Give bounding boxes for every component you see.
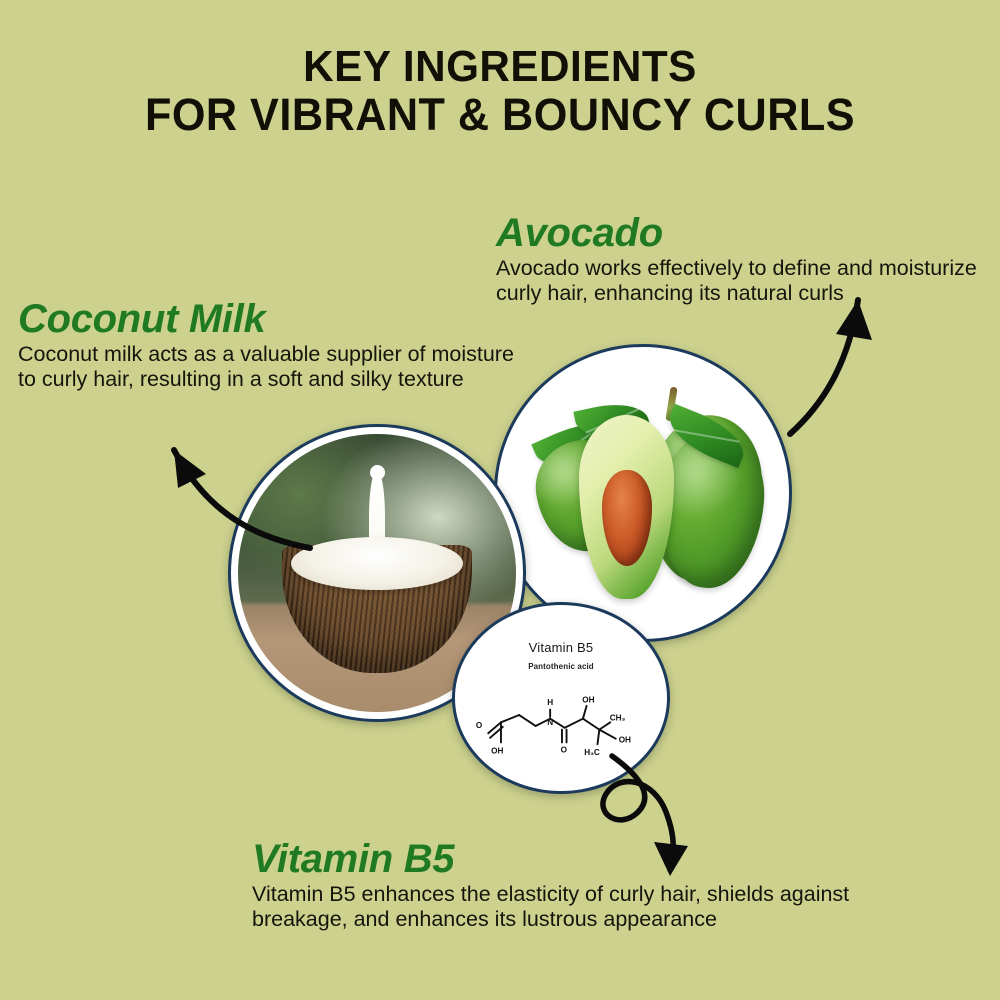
page-title: KEY INGREDIENTS FOR VIBRANT & BOUNCY CUR… [0, 44, 1000, 138]
label-n: N [547, 718, 553, 727]
avocado-body-text: Avocado works effectively to define and … [496, 256, 982, 305]
label-oh-left: OH [491, 746, 503, 755]
avocado-pit [602, 470, 652, 565]
avocado-photo [504, 354, 782, 632]
title-line-2: FOR VIBRANT & BOUNCY CURLS [20, 91, 980, 139]
label-h-top: H [547, 698, 553, 707]
vitamin-heading: Vitamin B5 [252, 838, 872, 880]
vitamin-b5-diagram: Vitamin B5 Pantothenic acid [462, 612, 660, 784]
section-vitamin-b5: Vitamin B5 Vitamin B5 enhances the elast… [252, 838, 872, 931]
avocado-heading: Avocado [496, 212, 982, 254]
coconut-heading: Coconut Milk [18, 298, 528, 340]
arrow-up-right-icon [780, 282, 940, 442]
avocado-image-inner [504, 354, 782, 632]
label-oh-top: OH [582, 695, 594, 704]
infographic-canvas: KEY INGREDIENTS FOR VIBRANT & BOUNCY CUR… [0, 0, 1000, 1000]
vitamin-diagram-subtitle: Pantothenic acid [462, 662, 660, 671]
coconut-body-text: Coconut milk acts as a valuable supplier… [18, 342, 528, 391]
section-coconut-milk: Coconut Milk Coconut milk acts as a valu… [18, 298, 528, 391]
vitamin-diagram-title: Vitamin B5 [462, 640, 660, 655]
section-avocado: Avocado Avocado works effectively to def… [496, 212, 982, 305]
label-o-left: O [476, 721, 483, 730]
title-line-1: KEY INGREDIENTS [20, 44, 980, 91]
label-oh-right: OH [619, 735, 631, 744]
label-ch3-right: CH₃ [610, 713, 626, 722]
avocado-image-circle [494, 344, 792, 642]
vitamin-image-inner: Vitamin B5 Pantothenic acid [462, 612, 660, 784]
pantothenic-acid-structure: O OH H N O OH CH₃ OH H₃C [470, 681, 652, 777]
avocado-half [579, 415, 674, 598]
label-o-mid: O [561, 745, 568, 754]
vitamin-b5-image-circle: Vitamin B5 Pantothenic acid [452, 602, 670, 794]
vitamin-body-text: Vitamin B5 enhances the elasticity of cu… [252, 882, 872, 931]
label-h3c: H₃C [584, 748, 600, 757]
coconut-milk-pool [291, 537, 463, 590]
